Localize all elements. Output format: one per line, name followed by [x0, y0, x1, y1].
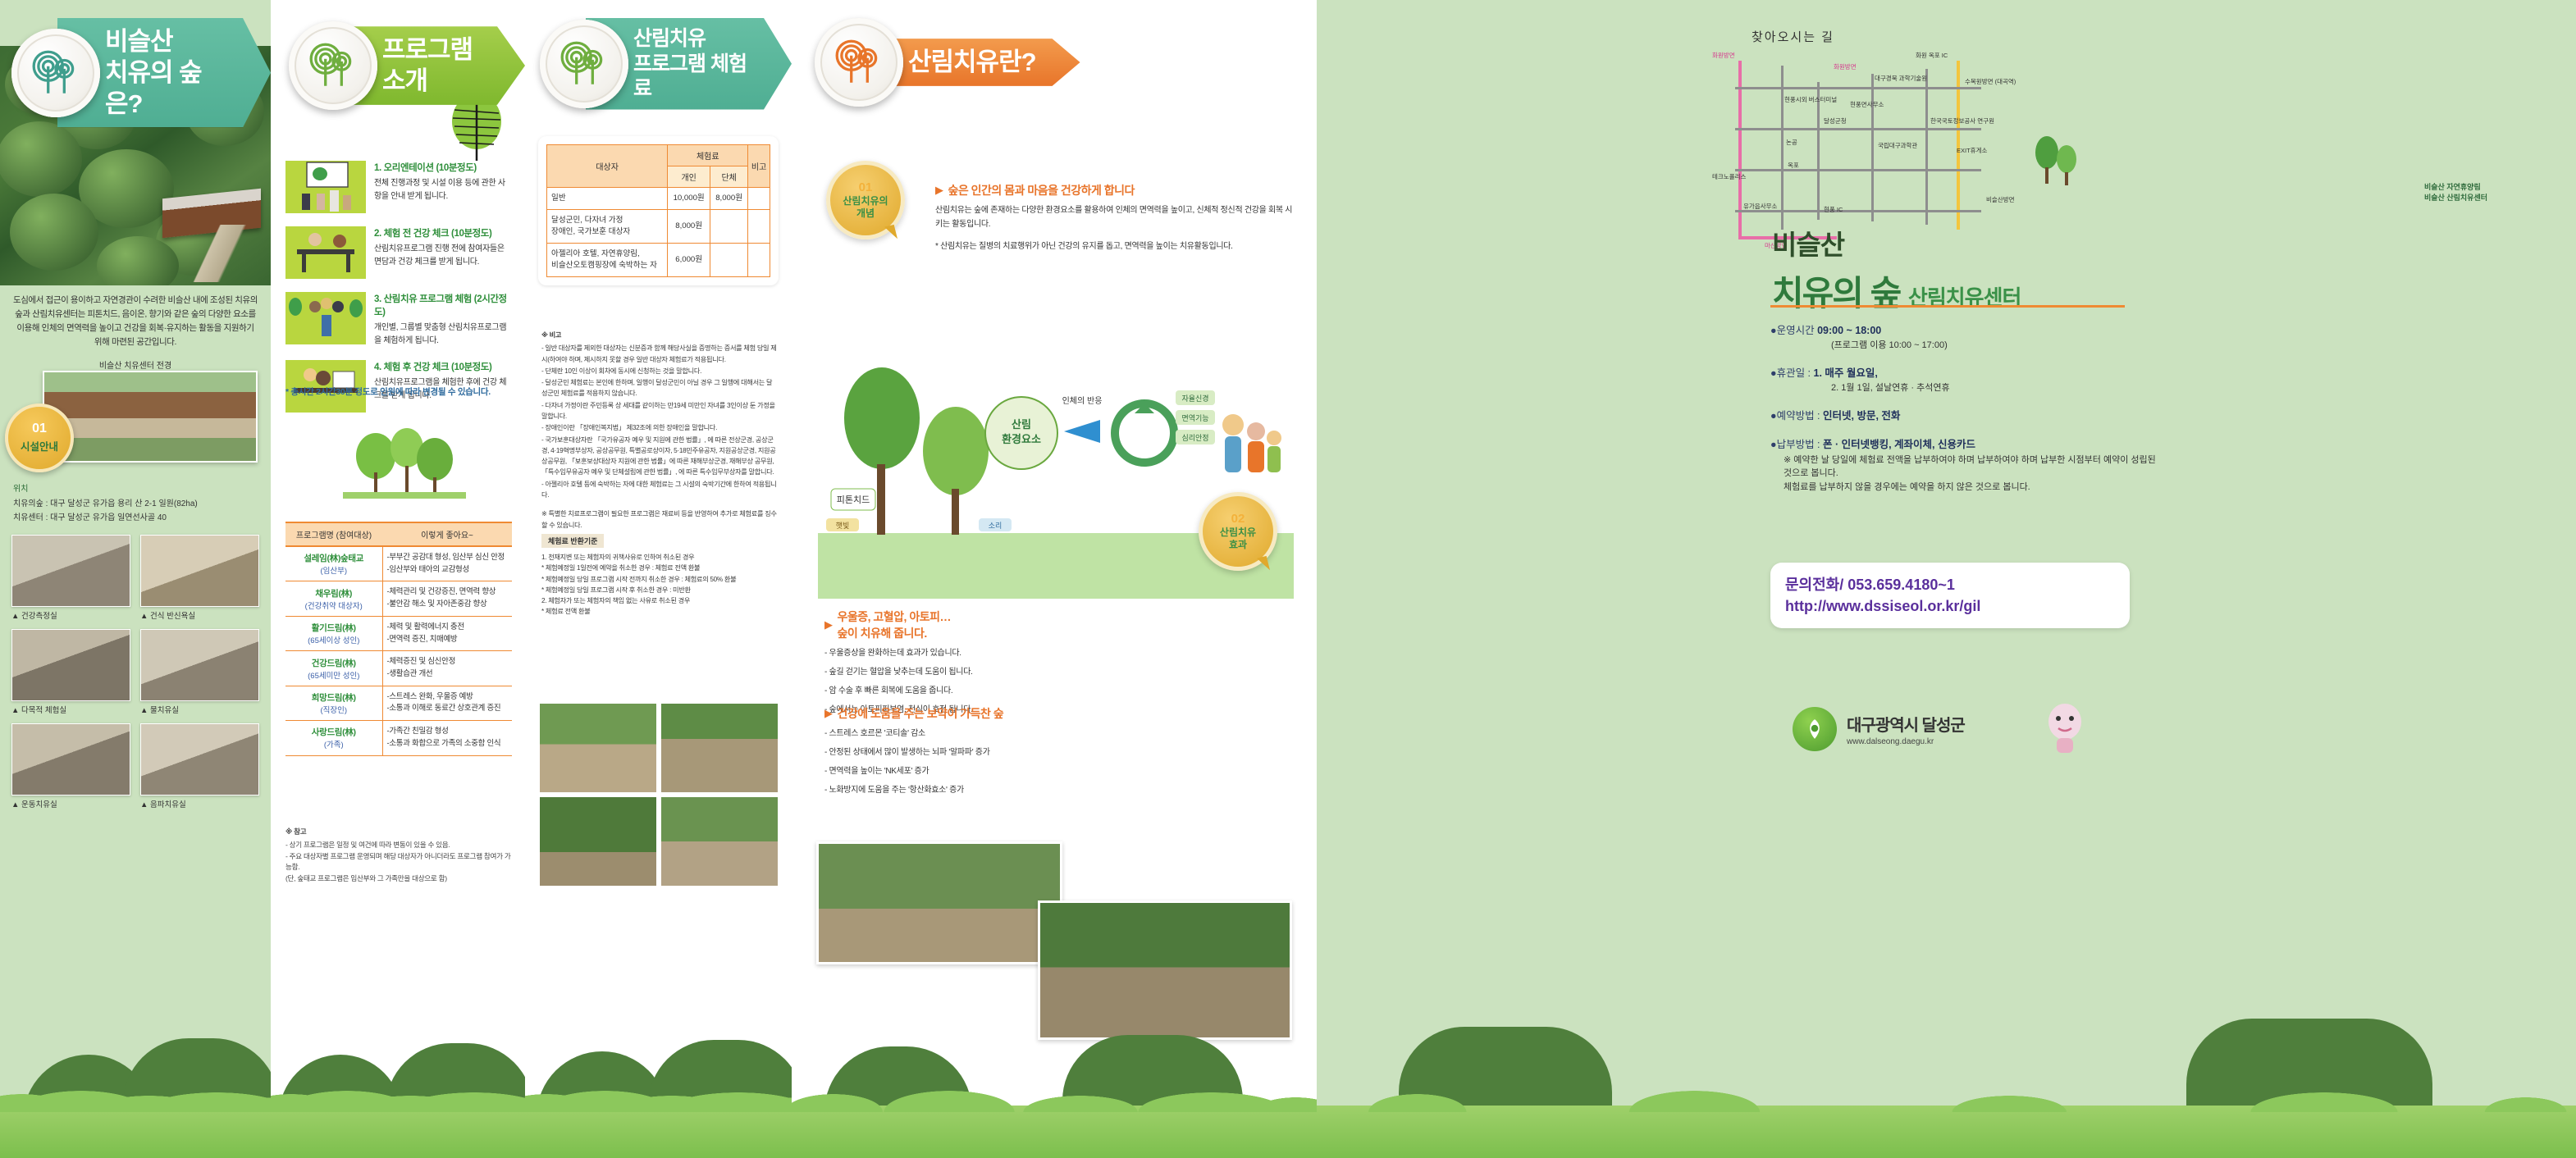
svg-text:산림: 산림 — [1012, 418, 1031, 431]
table-row: 사랑드림(林) (가족) -가족간 친밀감 형성 -소통과 화합으로 가족의 소… — [285, 721, 512, 755]
panel-program-header: 프로그램 소개 — [289, 21, 525, 110]
triangle-right-icon: ▶ — [935, 184, 943, 197]
concept-badge-number: 01 — [859, 181, 873, 194]
forest-healing-logo-icon — [815, 18, 903, 107]
program-total-time-note: * 총시간 2시간30분 정도로 인원에 따라 변경될 수 있습니다. — [285, 385, 512, 398]
operation-info: ●운영시간 09:00 ~ 18:00 (프로그램 이용 10:00 ~ 17:… — [1770, 323, 2156, 507]
concept-badge: 01 산림치유의 개념 — [826, 161, 905, 239]
program-benefit-cell: -가족간 친밀감 형성 -소통과 화합으로 가족의 소중함 인식 — [382, 721, 512, 755]
refund-line: 1. 천재지변 또는 체험자의 귀책사유로 인하여 취소된 경우 — [541, 552, 778, 563]
table-row: 달성군민, 다자녀 가정 장애인, 국가보훈 대상자 8,000원 — [547, 209, 770, 243]
cover-title-line1: 비슬산 — [1772, 223, 2021, 262]
map-label: 국립대구과학관 — [1878, 141, 1917, 150]
effect-heading-row: ▶ 우울증, 고혈압, 아토피… 숲이 치유해 줍니다. — [824, 609, 1284, 641]
facility-badge-label: 시설안내 — [21, 438, 58, 454]
info-value: 인터넷, 방문, 전화 — [1823, 410, 1900, 422]
facility-caption: ▲ 건강측정실 — [11, 609, 130, 621]
effect-item: - 우울증상을 완화하는데 효과가 있습니다. — [824, 646, 1284, 660]
healing-photo — [816, 841, 1062, 964]
info-value: 09:00 ~ 18:00 — [1817, 325, 1881, 336]
map-title: 찾아오시는 길 — [1752, 28, 1834, 45]
activity-photo — [661, 797, 778, 886]
panel-healing-title-text: 산림치유란? — [908, 47, 1036, 78]
grass-decoration — [271, 1106, 525, 1158]
program-step: 1. 오리엔테이션 (10분정도) 전체 진행과정 및 시설 이용 등에 관한 … — [285, 161, 512, 213]
fee-remark-cell — [748, 243, 770, 276]
cover-title-line2: 치유의 숲 산림치유센터 — [1772, 266, 2021, 316]
info-value: 폰 · 인터넷뱅킹, 계좌이체, 신용카드 — [1823, 439, 1975, 450]
svg-text:환경요소: 환경요소 — [1002, 433, 1041, 445]
fee-note-line: - 달성군민 체험료는 본인에 한하며, 일행이 달성군민이 아닐 경우 그 일… — [541, 377, 778, 399]
panel-about-header: 비슬산 치유의 숲은? — [11, 18, 271, 127]
info-value: 1. 매주 월요일, — [1814, 367, 1878, 379]
activity-photo — [540, 797, 656, 886]
svg-text:면역기능: 면역기능 — [1181, 414, 1208, 422]
health-item: - 안정된 상태에서 많이 발생하는 뇌파 '알파파' 증가 — [824, 745, 1284, 759]
info-sub: 2. 1월 1일, 설날연휴 · 추석연휴 — [1831, 381, 2156, 395]
panel-cover: 찾아오시는 길 화원방면 화원 옥포 IC 화원방면 대구경북 과학기술원 수목… — [1317, 0, 2576, 1158]
info-row: ●예약방법 : 인터넷, 방문, 전화 — [1770, 408, 2156, 424]
address-line-2: 치유센터 : 대구 달성군 유가읍 일연선사골 40 — [13, 511, 259, 526]
facility-caption: ▲ 건식 반신욕실 — [140, 609, 259, 621]
svg-text:심리안정: 심리안정 — [1181, 434, 1208, 442]
program-table-col-benefit: 이렇게 좋아요~ — [382, 522, 512, 546]
grass-decoration — [792, 1106, 1317, 1158]
map-label: 화원 옥포 IC — [1916, 51, 1948, 60]
panel-about: 비슬산 치유의 숲은? 도심에서 접근이 용이하고 자연경관이 수려한 비슬산 … — [0, 0, 271, 1158]
health-item: - 노화방지에 도움을 주는 '항산화효소' 증가 — [824, 783, 1284, 797]
grass-decoration — [0, 1106, 271, 1158]
fee-group-cell — [710, 243, 748, 276]
healing-photo-collage — [816, 822, 1295, 1068]
fee-group-cell — [710, 209, 748, 243]
table-row: 설레임(林)숲태교 (임산부) -부부간 공감대 형성, 임산부 심신 안정 -… — [285, 546, 512, 581]
effect-badge: 02 산림치유 효과 — [1199, 492, 1277, 571]
grass-decoration — [525, 1106, 792, 1158]
fee-remark-cell — [748, 188, 770, 210]
program-table-col-name: 프로그램명 (참여대상) — [285, 522, 382, 546]
refund-line: 2. 체험자가 또는 체험자의 책임 없는 사유로 취소된 경우 — [541, 595, 778, 606]
program-table-header-row: 프로그램명 (참여대상) 이렇게 좋아요~ — [285, 522, 512, 546]
main-photo-caption: 비슬산 치유센터 전경 — [0, 358, 271, 371]
fee-special-note: ※ 특별한 치료프로그램이 필요한 프로그램은 재료비 등을 반영하여 추가로 … — [541, 508, 778, 531]
footnote-title: ※ 참고 — [285, 827, 517, 838]
facility-cell: ▲ 물치유실 — [140, 629, 259, 715]
fee-col-remark: 비고 — [748, 145, 770, 188]
table-row: 희망드림(林) (직장인) -스트레스 완화, 우울증 예방 -소통과 이해로 … — [285, 686, 512, 720]
program-target: (건강취약 대상자) — [290, 600, 378, 611]
program-benefit-cell: -스트레스 완화, 우울증 예방 -소통과 이해로 동료간 상호관계 증진 — [382, 686, 512, 720]
fee-target-cell: 일반 — [547, 188, 668, 210]
bullet-icon: ● — [1770, 325, 1777, 336]
concept-heading-row: ▶ 숲은 인간의 몸과 마음을 건강하게 합니다 — [935, 182, 1296, 198]
health-heading: 건강에 도움을 주는 보약이 가득찬 숲 — [838, 705, 1004, 722]
facility-cell: ▲ 다목적 체험실 — [11, 629, 130, 715]
panel-program-title-text: 프로그램 소개 — [382, 34, 481, 97]
brochure-page: 비슬산 치유의 숲은? 도심에서 접근이 용이하고 자연경관이 수려한 비슬산 … — [0, 0, 2576, 1158]
table-row: 활기드림(林) (65세이상 성인) -체력 및 활력에너지 충전 -면역력 증… — [285, 616, 512, 650]
facility-cell: ▲ 건강측정실 — [11, 535, 130, 621]
footnote-line: - 주요 대상자별 프로그램 운영되며 해당 대상자가 아니더라도 프로그램 참… — [285, 851, 517, 874]
program-name-cell: 희망드림(林) (직장인) — [285, 686, 382, 720]
panel-fees-title-line1: 산림치유 — [633, 26, 747, 52]
program-name-cell: 채우림(林) (건강취약 대상자) — [285, 581, 382, 616]
effect-item: - 암 수술 후 빠른 회복에 도움을 줍니다. — [824, 684, 1284, 698]
activity-photo — [540, 704, 656, 792]
program-table: 프로그램명 (참여대상) 이렇게 좋아요~ 설레임(林)숲태교 (임산부) -부… — [285, 522, 512, 756]
map-label: 비슬산방면 — [1986, 195, 2015, 204]
fee-individual-cell: 6,000원 — [668, 243, 710, 276]
map-tree-icon — [2032, 131, 2080, 189]
program-target: (65세이상 성인) — [290, 634, 378, 645]
contact-website-link[interactable]: http://www.dssiseol.or.kr/gil — [1785, 598, 1980, 614]
map-label: 한국국토정보공사 연구원 — [1930, 116, 1994, 125]
organization-url: www.dalseong.daegu.kr — [1847, 737, 1965, 746]
info-row: ●운영시간 09:00 ~ 18:00 (프로그램 이용 10:00 ~ 17:… — [1770, 323, 2156, 353]
panel-fees-title-line2: 프로그램 체험료 — [633, 52, 747, 102]
step-title: 4. 체험 후 건강 체크 (10분정도) — [374, 360, 512, 373]
info-row: ●휴관일 : 1. 매주 월요일, 2. 1월 1일, 설날연휴 · 추석연휴 — [1770, 366, 2156, 395]
info-label: 납부방법 : — [1777, 439, 1820, 450]
svg-text:인체의 반응: 인체의 반응 — [1062, 396, 1103, 406]
program-name: 희망드림(林) — [290, 691, 378, 704]
map-label: 화원방면 — [1712, 51, 1735, 60]
program-benefit-cell: -체력증진 및 심신안정 -생활습관 개선 — [382, 651, 512, 686]
fee-target-cell: 달성군민, 다자녀 가정 장애인, 국가보훈 대상자 — [547, 209, 668, 243]
footnote-line: - 상기 프로그램은 일정 및 여건에 따라 변동이 있을 수 있음. — [285, 840, 517, 851]
footnote-line: (단, 숲태교 프로그램은 임산부와 그 가족만을 대상으로 함) — [285, 873, 517, 885]
program-name: 사랑드림(林) — [290, 726, 378, 738]
facility-badge-number: 01 — [32, 422, 47, 435]
fee-note-line: - 장애인이란 「장애인복지법」 제32조에 의한 장애인을 말합니다. — [541, 422, 778, 433]
facility-guide-badge: 01 시설안내 — [5, 403, 74, 472]
map-label: 유가읍사무소 — [1743, 202, 1777, 211]
map-label: 논공 — [1786, 138, 1797, 147]
map-label: 옥포 — [1788, 161, 1799, 170]
triangle-right-icon: ▶ — [824, 618, 833, 631]
facility-caption: ▲ 다목적 체험실 — [11, 704, 130, 715]
table-row: 일반 10,000원 8,000원 — [547, 188, 770, 210]
map-label: 대구경북 과학기술원 — [1875, 74, 1927, 83]
effect-item: - 숲길 걷기는 혈압을 낮추는데 도움이 됩니다. — [824, 665, 1284, 679]
facility-cell: ▲ 음파치유실 — [140, 723, 259, 809]
program-step: 2. 체험 전 건강 체크 (10분정도) 산림치유프로그램 진행 전에 참여자… — [285, 226, 512, 279]
fee-notes: ※ 비고 - 일반 대상자를 제외한 대상자는 신분증과 함께 해당사실을 증명… — [541, 330, 778, 531]
effect-badge-number: 02 — [1231, 513, 1245, 525]
fee-group-cell: 8,000원 — [710, 188, 748, 210]
map-label: 현풍면사무소 — [1850, 100, 1884, 109]
program-name: 건강드림(林) — [290, 657, 378, 669]
bullet-icon: ● — [1770, 439, 1777, 450]
table-row: 건강드림(林) (65세미만 성인) -체력증진 및 심신안정 -생활습관 개선 — [285, 651, 512, 686]
effect-badge-label: 산림치유 효과 — [1220, 527, 1256, 550]
program-name-cell: 건강드림(林) (65세미만 성인) — [285, 651, 382, 686]
svg-text:소리: 소리 — [989, 522, 1003, 530]
fee-remark-cell — [748, 209, 770, 243]
concept-badge-label: 산림치유의 개념 — [843, 195, 888, 219]
refund-policy-box: 체험료 반환기준 1. 천재지변 또는 체험자의 귀책사유로 인하여 취소된 경… — [541, 533, 778, 618]
center-building-photo — [43, 371, 258, 463]
fee-note-line: - 단체란 10인 이상이 회차에 동시에 신청하는 것을 말합니다. — [541, 366, 778, 376]
info-row: ●납부방법 : 폰 · 인터넷뱅킹, 계좌이체, 신용카드 ※ 예약한 날 당일… — [1770, 437, 2156, 494]
fee-target-cell: 아젤리아 호텔, 자연휴양림, 비슬산오토캠핑장에 숙박하는 자 — [547, 243, 668, 276]
facility-caption: ▲ 운동치유실 — [11, 798, 130, 809]
mascot-icon — [2039, 699, 2091, 756]
concept-block: ▶ 숲은 인간의 몸과 마음을 건강하게 합니다 산림치유는 숲에 존재하는 다… — [935, 182, 1296, 253]
bullet-icon: ● — [1770, 367, 1777, 379]
fee-col-group: 단체 — [710, 166, 748, 188]
program-benefit-cell: -부부간 공감대 형성, 임산부 심신 안정 -임산부와 태아의 교감형성 — [382, 546, 512, 581]
refund-line: * 체험예정일 당일 프로그램 시작 후 취소한 경우 : 미반환 — [541, 585, 778, 595]
program-footnotes: ※ 참고 - 상기 프로그램은 일정 및 여건에 따라 변동이 있을 수 있음.… — [285, 827, 517, 885]
contact-card: 문의전화/ 053.659.4180~1 http://www.dssiseol… — [1770, 563, 2130, 628]
refund-policy-title: 체험료 반환기준 — [541, 534, 604, 548]
program-target: (직장인) — [290, 704, 378, 715]
map-destination-label: 비슬산 자연휴양림 비슬산 산림치유센터 — [2424, 182, 2555, 203]
panel-about-title-line2: 치유의 숲은? — [105, 57, 226, 120]
info-label: 휴관일 : — [1777, 367, 1811, 379]
refund-line: * 체험료 전액 환불 — [541, 606, 778, 617]
map-label: 현풍 IC — [1824, 205, 1843, 214]
concept-heading: 숲은 인간의 몸과 마음을 건강하게 합니다 — [948, 182, 1135, 198]
facility-cell: ▲ 건식 반신욕실 — [140, 535, 259, 621]
fee-table-card: 대상자 체험료 비고 개인 단체 일반 10,000원 8,000원 — [538, 136, 779, 285]
svg-text:햇빛: 햇빛 — [836, 521, 850, 530]
forest-healing-logo-icon — [289, 21, 377, 110]
info-label: 운영시간 — [1777, 325, 1815, 336]
svg-text:피톤치드: 피톤치드 — [837, 495, 870, 505]
map-label: 달성군청 — [1824, 116, 1847, 125]
fee-note-line: - 국가보훈대상자란 「국가유공자 예우 및 지원에 관한 법률」, 에 따른 … — [541, 435, 778, 478]
refund-policy-body: 1. 천재지변 또는 체험자의 귀책사유로 인하여 취소된 경우 * 체험예정일… — [541, 552, 778, 618]
fee-individual-cell: 8,000원 — [668, 209, 710, 243]
info-sub: (프로그램 이용 10:00 ~ 17:00) — [1831, 339, 2156, 353]
cover-title: 비슬산 치유의 숲 산림치유센터 — [1772, 223, 2021, 316]
effect-heading: 우울증, 고혈압, 아토피… 숲이 치유해 줍니다. — [838, 609, 951, 641]
refund-line: * 체험예정일 1일전에 예약을 취소한 경우 : 체험료 전액 환불 — [541, 563, 778, 573]
map-label: 테크노폴리스 — [1712, 172, 1746, 181]
fee-col-individual: 개인 — [668, 166, 710, 188]
refund-line: * 체험예정일 당일 프로그램 시작 전까지 취소한 경우 : 체험료의 50%… — [541, 574, 778, 585]
panel-fees: 산림치유 프로그램 체험료 대상자 체험료 비고 개인 단체 — [525, 0, 792, 1158]
program-benefit-cell: -체력관리 및 건강증진, 면역력 향상 -불안감 해소 및 자아존중감 향상 — [382, 581, 512, 616]
step-title: 1. 오리엔테이션 (10분정도) — [374, 161, 512, 174]
panel-about-title-line1: 비슬산 — [105, 26, 226, 57]
facility-cell: ▲ 운동치유실 — [11, 723, 130, 809]
program-name: 활기드림(林) — [290, 622, 378, 634]
health-item: - 면역력을 높이는 'NK세포' 증가 — [824, 764, 1284, 778]
program-name-cell: 설레임(林)숲태교 (임산부) — [285, 546, 382, 581]
grass-decoration — [1317, 1106, 2576, 1158]
svg-text:자율신경: 자율신경 — [1181, 394, 1208, 403]
program-target: (가족) — [290, 738, 378, 750]
address-title: 위치 — [13, 482, 259, 497]
fee-note-line: - 다자녀 가정이란 주민등록 상 세대를 같이하는 만19세 미만인 자녀를 … — [541, 400, 778, 422]
bullet-icon: ● — [1770, 410, 1777, 422]
contact-phone: 문의전화/ 053.659.4180~1 — [1785, 574, 2115, 595]
fee-notes-title: ※ 비고 — [541, 330, 778, 340]
fee-col-fee: 체험료 — [668, 145, 748, 166]
about-intro-text: 도심에서 접근이 용이하고 자연경관이 수려한 비슬산 내에 조성된 치유의 숲… — [0, 289, 271, 354]
concept-body: 산림치유는 숲에 존재하는 다양한 환경요소를 활용하여 인체의 면역력을 높이… — [935, 203, 1296, 231]
step-desc: 전체 진행과정 및 시설 이용 등에 관한 사항을 안내 받게 됩니다. — [374, 177, 512, 203]
program-target: (65세미만 성인) — [290, 669, 378, 681]
program-name-cell: 사랑드림(林) (가족) — [285, 721, 382, 755]
program-name: 채우림(林) — [290, 587, 378, 600]
program-target: (임산부) — [290, 564, 378, 576]
organization-name: 대구광역시 달성군 — [1847, 712, 1965, 736]
map-label: 현풍시외 버스터미널 — [1784, 95, 1837, 104]
address-block: 위치 치유의숲 : 대구 달성군 유가읍 용리 산 2-1 일원(82ha) 치… — [13, 482, 259, 526]
activity-photo-grid — [540, 704, 778, 886]
facility-photo-grid: ▲ 건강측정실 ▲ 건식 반신욕실 ▲ 다목적 체험실 ▲ 물치유실 ▲ 운동치… — [11, 535, 259, 809]
panel-fees-header: 산림치유 프로그램 체험료 — [540, 18, 792, 110]
program-name: 설레임(林)숲태교 — [290, 552, 378, 564]
step-thumbnail — [285, 226, 366, 279]
step-thumbnail — [285, 161, 366, 213]
dalseong-emblem-icon — [1793, 707, 1837, 751]
forest-scene-illustration-icon — [343, 420, 466, 499]
triangle-right-icon: ▶ — [824, 707, 833, 720]
fee-table-header-row-1: 대상자 체험료 비고 — [547, 145, 770, 166]
info-label: 예약방법 : — [1777, 410, 1820, 422]
panel-program-intro: 프로그램 소개 — [271, 0, 525, 1158]
map-label: EXIT휴게소 — [1957, 146, 1987, 155]
fee-note-line: - 아젤리아 호텔 등에 숙박하는 자에 대한 체험료는 그 시설의 숙박기간에… — [541, 479, 778, 501]
fee-note-line: - 일반 대상자를 제외한 대상자는 신분증과 함께 해당사실을 증명하는 증서… — [541, 343, 778, 365]
program-name-cell: 활기드림(林) (65세이상 성인) — [285, 616, 382, 650]
facility-caption: ▲ 물치유실 — [140, 704, 259, 715]
panel-healing-header: 산림치유란? — [815, 18, 1080, 107]
forest-healing-logo-icon — [11, 29, 100, 117]
step-title: 3. 산림치유 프로그램 체험 (2시간정도) — [374, 292, 512, 318]
health-heading-row: ▶ 건강에 도움을 주는 보약이 가득찬 숲 — [824, 705, 1284, 722]
concept-note: * 산림치유는 질병의 치료행위가 아닌 건강의 유지를 돕고, 면역력을 높이… — [935, 239, 1296, 253]
health-block: ▶ 건강에 도움을 주는 보약이 가득찬 숲 - 스트레스 호르몬 '코티솔' … — [824, 705, 1284, 797]
healing-photo — [1038, 900, 1292, 1040]
forest-healing-logo-icon — [540, 20, 628, 108]
panel-what-is-forest-healing: 산림치유란? 01 산림치유의 개념 ▶ 숲은 인간의 몸과 마음을 건강하게 … — [792, 0, 1317, 1158]
fee-table: 대상자 체험료 비고 개인 단체 일반 10,000원 8,000원 — [546, 144, 770, 277]
program-benefit-cell: -체력 및 활력에너지 충전 -면역력 증진, 치매예방 — [382, 616, 512, 650]
address-line-1: 치유의숲 : 대구 달성군 유가읍 용리 산 2-1 일원(82ha) — [13, 497, 259, 512]
organization-logo: 대구광역시 달성군 www.dalseong.daegu.kr — [1793, 707, 1965, 751]
info-sub: ※ 예약한 날 당일에 체험료 전액을 납부하여야 하며 납부하여야 하며 납부… — [1784, 454, 2156, 495]
activity-photo — [661, 704, 778, 792]
facility-caption: ▲ 음파치유실 — [140, 798, 259, 809]
step-thumbnail — [285, 292, 366, 344]
fee-col-target: 대상자 — [547, 145, 668, 188]
fee-individual-cell: 10,000원 — [668, 188, 710, 210]
title-divider — [1770, 305, 2125, 308]
health-item: - 스트레스 호르몬 '코티솔' 감소 — [824, 727, 1284, 741]
step-title: 2. 체험 전 건강 체크 (10분정도) — [374, 226, 512, 239]
table-row: 채우림(林) (건강취약 대상자) -체력관리 및 건강증진, 면역력 향상 -… — [285, 581, 512, 616]
map-label: 화원방면 — [1834, 62, 1857, 71]
step-desc: 개인별, 그룹별 맞춤형 산림치유프로그램을 체험하게 됩니다. — [374, 321, 512, 347]
program-step: 3. 산림치유 프로그램 체험 (2시간정도) 개인별, 그룹별 맞춤형 산림치… — [285, 292, 512, 347]
table-row: 아젤리아 호텔, 자연휴양림, 비슬산오토캠핑장에 숙박하는 자 6,000원 — [547, 243, 770, 276]
effect-block: ▶ 우울증, 고혈압, 아토피… 숲이 치유해 줍니다. - 우울증상을 완화하… — [824, 609, 1284, 717]
step-desc: 산림치유프로그램 진행 전에 참여자들은 면담과 건강 체크를 받게 됩니다. — [374, 243, 512, 268]
map-label: 수목원방면 (대곡역) — [1965, 77, 2016, 86]
